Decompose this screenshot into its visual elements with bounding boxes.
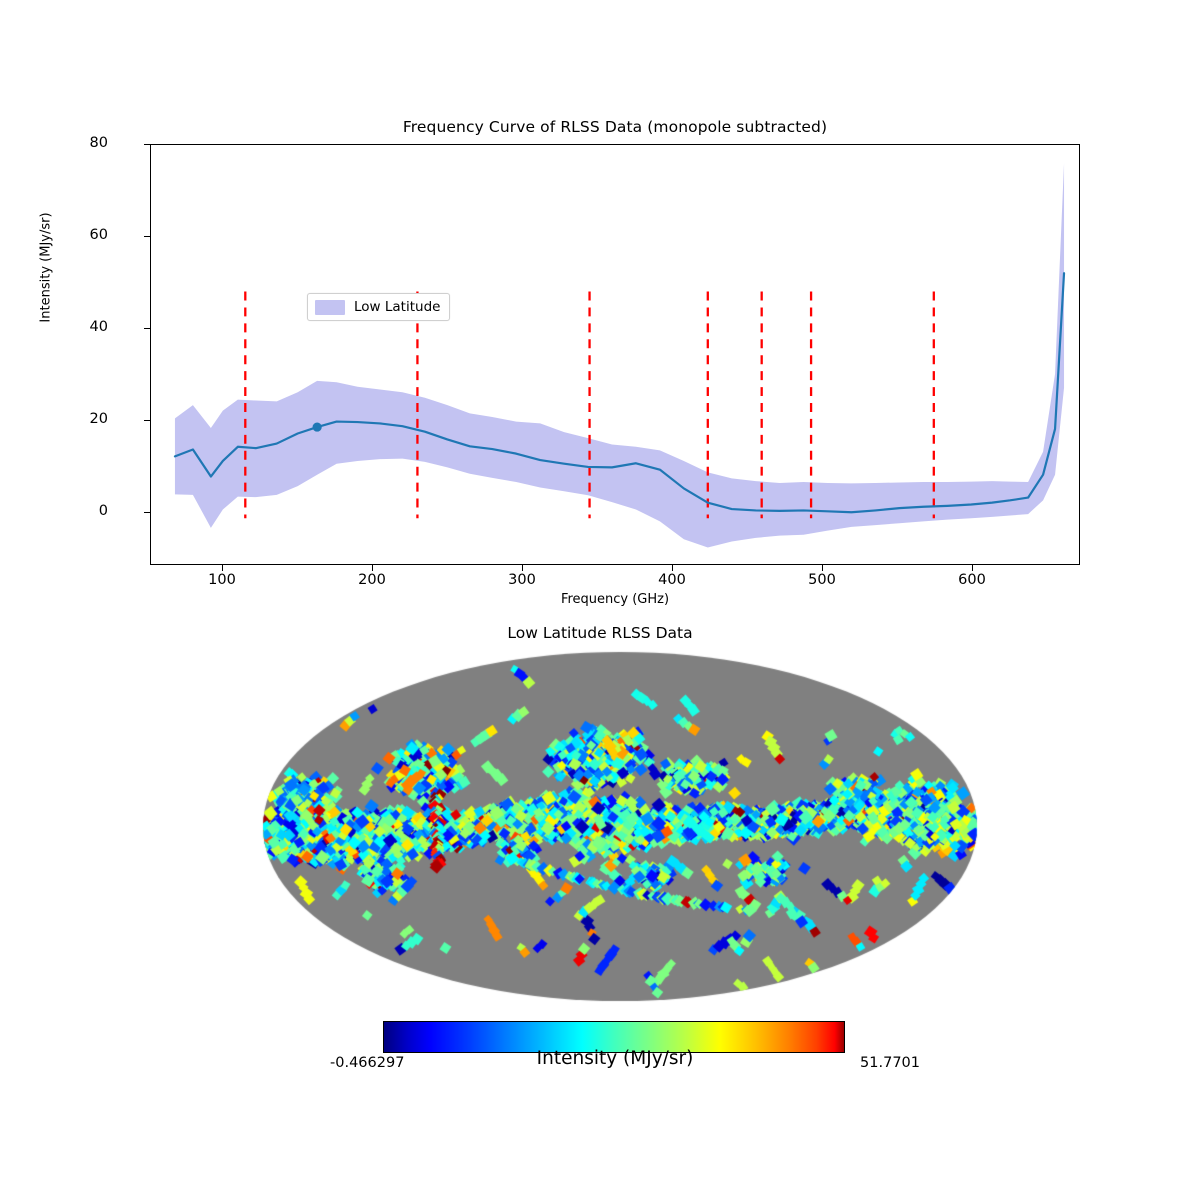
frequency-chart-title: Frequency Curve of RLSS Data (monopole s… — [150, 118, 1080, 136]
y-tick-label: 40 — [48, 319, 108, 335]
chart-legend[interactable]: Low Latitude — [307, 293, 450, 321]
x-tick-mark — [522, 565, 523, 571]
x-tick-label: 400 — [642, 572, 702, 588]
y-tick-mark — [144, 236, 150, 237]
x-tick-label: 200 — [342, 572, 402, 588]
mollweide-map — [262, 651, 978, 1002]
figure-canvas: Frequency Curve of RLSS Data (monopole s… — [0, 0, 1200, 1200]
x-tick-label: 100 — [192, 572, 252, 588]
y-tick-label: 80 — [48, 135, 108, 151]
y-tick-label: 60 — [48, 227, 108, 243]
y-tick-label: 20 — [48, 411, 108, 427]
frequency-curve-panel: Frequency Curve of RLSS Data (monopole s… — [0, 0, 1200, 615]
colorbar-title: Intensity (MJy/sr) — [440, 1048, 790, 1069]
legend-label-low-latitude: Low Latitude — [354, 299, 440, 315]
x-axis-label: Frequency (GHz) — [150, 592, 1080, 607]
y-tick-mark — [144, 420, 150, 421]
y-axis-label: Intensity (MJy/sr) — [39, 138, 54, 398]
colorbar-min-label: -0.466297 — [330, 1055, 450, 1071]
mollweide-canvas — [262, 651, 978, 1002]
y-tick-mark — [144, 512, 150, 513]
x-tick-mark — [372, 565, 373, 571]
frequency-plot-area: Low Latitude — [150, 144, 1080, 565]
frequency-chart-svg — [151, 145, 1079, 564]
y-tick-mark — [144, 144, 150, 145]
sky-map-panel: Low Latitude RLSS Data — [0, 612, 1200, 1032]
colorbar-max-label: 51.7701 — [800, 1055, 920, 1071]
x-tick-mark — [672, 565, 673, 571]
x-tick-mark — [222, 565, 223, 571]
sky-map-title: Low Latitude RLSS Data — [0, 624, 1200, 642]
y-tick-mark — [144, 328, 150, 329]
legend-swatch-low-latitude — [315, 300, 345, 315]
x-tick-label: 300 — [492, 572, 552, 588]
x-tick-label: 600 — [942, 572, 1002, 588]
x-tick-label: 500 — [792, 572, 852, 588]
y-tick-label: 0 — [48, 503, 108, 519]
x-tick-mark — [822, 565, 823, 571]
x-tick-mark — [972, 565, 973, 571]
